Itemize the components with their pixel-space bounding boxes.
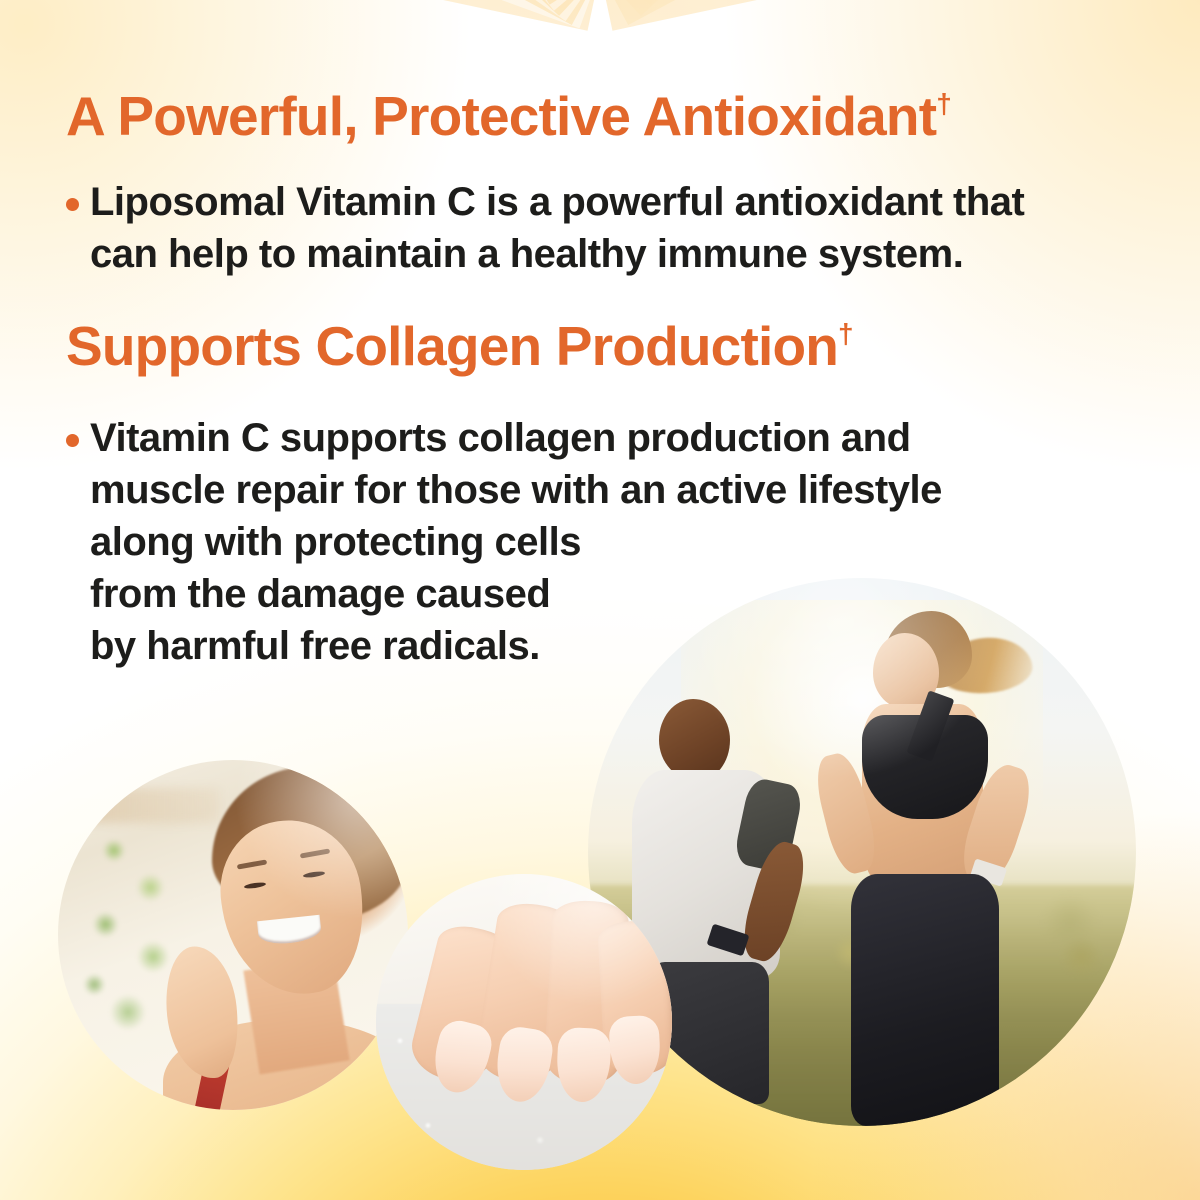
dagger-symbol-icon: † [936, 88, 951, 119]
bullet-dot-icon [66, 434, 79, 447]
heading-antioxidant: A Powerful, Protective Antioxidant† [66, 88, 951, 144]
dagger-symbol-icon: † [838, 318, 853, 349]
photo-hand-with-healthy-fingernails [376, 874, 672, 1170]
photo-smiling-woman-touching-face [58, 760, 408, 1110]
heading-collagen-text: Supports Collagen Production [66, 315, 838, 377]
heading-collagen: Supports Collagen Production† [66, 318, 853, 374]
benefits-poster: A Powerful, Protective Antioxidant† Lipo… [0, 0, 1200, 1200]
bullet-item-antioxidant: Liposomal Vitamin C is a powerful antiox… [66, 176, 1024, 280]
heading-antioxidant-text: A Powerful, Protective Antioxidant [66, 85, 936, 147]
bullet-text-antioxidant: Liposomal Vitamin C is a powerful antiox… [90, 176, 1024, 280]
bullet-item-collagen: Vitamin C supports collagen production a… [66, 412, 942, 672]
bullet-dot-icon [66, 198, 79, 211]
bullet-text-collagen: Vitamin C supports collagen production a… [90, 412, 942, 672]
